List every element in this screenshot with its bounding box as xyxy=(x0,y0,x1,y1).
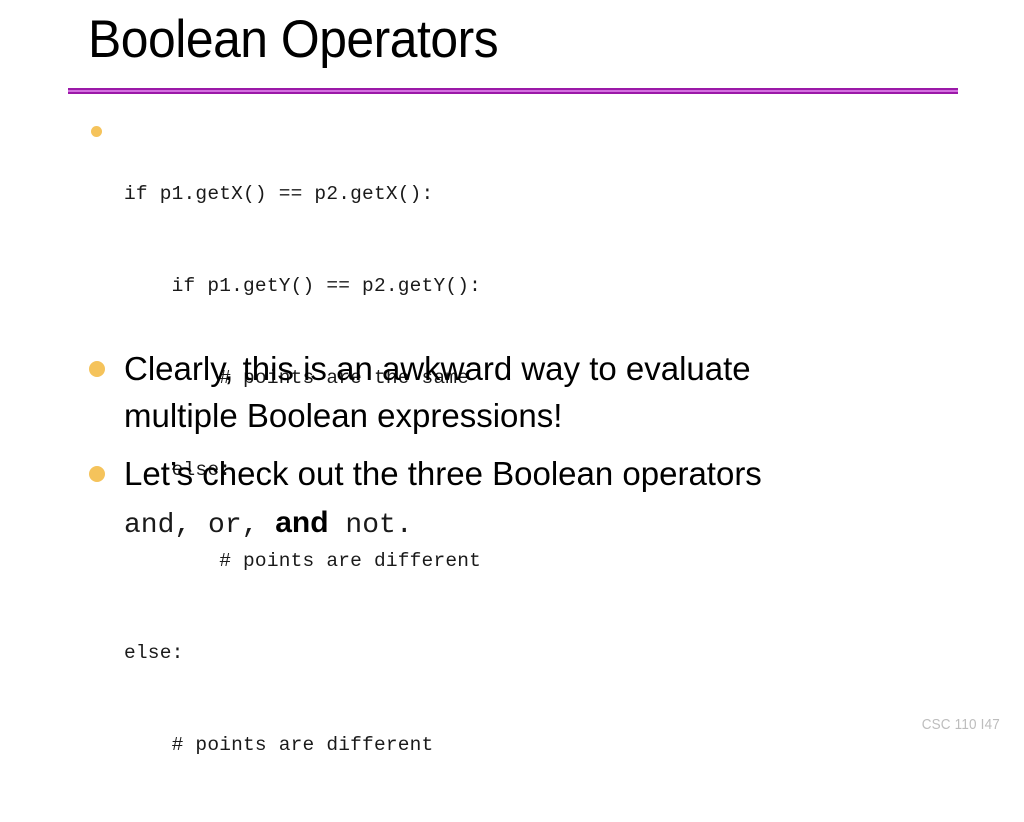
rule-line-bottom xyxy=(68,92,958,94)
footer-slide-label: CSC 110 I47 xyxy=(922,716,1000,733)
list-item-line: Let’s check out the three Boolean operat… xyxy=(124,450,944,497)
list-item-line: multiple Boolean expressions! xyxy=(124,392,944,439)
list-item-line-operators: and, or, and not. xyxy=(124,497,944,549)
slide-canvas: Boolean Operators if p1.getX() == p2.get… xyxy=(0,0,1024,768)
code-line: # points are different xyxy=(124,546,481,577)
title-divider-rule xyxy=(68,88,958,94)
operator-separator: , xyxy=(242,510,276,541)
list-item: Clearly, this is an awkward way to evalu… xyxy=(124,345,944,439)
page-title: Boolean Operators xyxy=(88,4,498,76)
code-line: # points are different xyxy=(124,730,481,761)
operator-and: and xyxy=(124,510,174,541)
bullet-icon-code xyxy=(91,126,102,137)
operator-period: . xyxy=(396,510,413,541)
code-line: else: xyxy=(124,638,481,669)
code-line: if p1.getY() == p2.getY(): xyxy=(124,271,481,302)
list-item-line: Clearly, this is an awkward way to evalu… xyxy=(124,345,944,392)
operator-separator: , xyxy=(174,510,208,541)
conjunction-and: and xyxy=(275,506,328,539)
operator-not: not xyxy=(345,510,395,541)
bullet-icon-first xyxy=(89,361,105,377)
operator-spacer xyxy=(329,510,346,541)
bullet-icon-second xyxy=(89,466,105,482)
operator-or: or xyxy=(208,510,242,541)
list-item: Let’s check out the three Boolean operat… xyxy=(124,450,944,549)
code-line: if p1.getX() == p2.getX(): xyxy=(124,179,481,210)
